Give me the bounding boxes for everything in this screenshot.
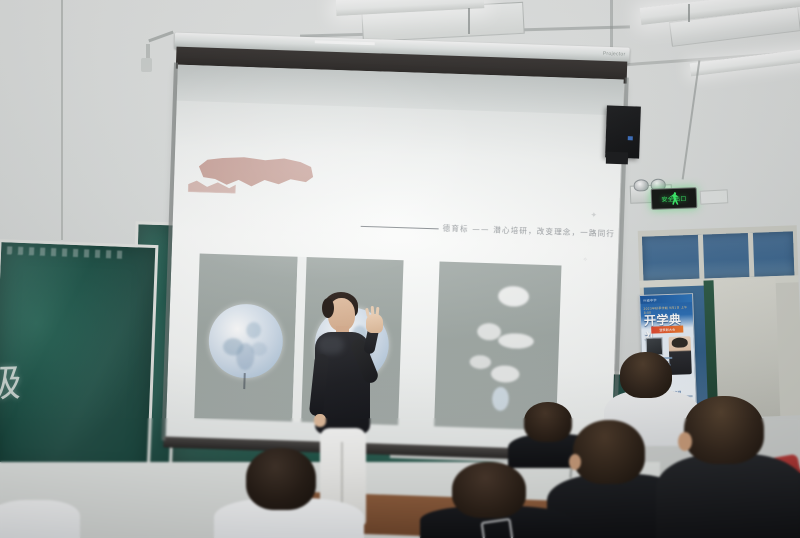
wall-speaker — [605, 105, 641, 158]
slide-title-text: 德育标 —— 潜心培研，改变理念，一路同行 — [442, 223, 615, 240]
student-head — [246, 448, 316, 510]
circular-image-1 — [208, 303, 284, 379]
wall-seam-left — [61, 0, 63, 240]
panel-stem-1 — [243, 373, 246, 389]
teacher-finger-1 — [365, 308, 370, 317]
chalk-smudge — [7, 246, 127, 259]
slide-image-panel-1 — [194, 254, 297, 422]
light-hanger-rod-1 — [468, 8, 470, 34]
poster-kicker-text: 兴南中学 — [643, 297, 657, 302]
chalk-writing: 级 — [0, 352, 22, 408]
student-body — [0, 500, 80, 538]
teacher-shoulder-highlight — [318, 336, 344, 354]
emergency-lamp-icon-left — [633, 179, 648, 192]
light-hanger-rod-2 — [688, 4, 690, 22]
student-front-center — [430, 462, 560, 538]
student-body — [656, 454, 800, 538]
student-edge-left — [0, 500, 80, 538]
roller-highlight — [315, 40, 375, 45]
teacher-finger-2 — [371, 306, 375, 315]
student-front-left — [228, 448, 348, 538]
classroom-photo: 级 Projector 德育标 —— 潜心培研，改变理念，一路同行 ✦ ✧ — [0, 0, 800, 538]
window-transom-glass — [642, 231, 794, 280]
speaker-mount — [606, 152, 628, 165]
screen-brand-label: Projector — [603, 51, 626, 58]
student-ear — [678, 432, 692, 451]
student-ear — [569, 454, 581, 470]
teacher-hair-bun — [322, 298, 334, 318]
slide-decoration-icon-2: ✧ — [583, 256, 588, 263]
wall-sensor-plate — [700, 189, 729, 204]
teacher-hand-lowered — [314, 414, 326, 427]
poster-ribbon-text: 暨表彰大会 — [659, 327, 675, 333]
board-sheen — [0, 242, 155, 476]
slide-decoration-icon: ✦ — [590, 210, 597, 219]
student-head — [452, 462, 526, 518]
screen-bracket-knob — [141, 58, 152, 72]
slide-rule-line — [361, 226, 439, 230]
chalkboard-left: 级 — [0, 239, 158, 479]
student-head — [684, 396, 764, 464]
student-head — [620, 352, 672, 398]
student-head — [573, 420, 645, 484]
poster-ribbon: 暨表彰大会 — [651, 325, 683, 333]
exit-sign: 安全出口 — [651, 187, 698, 210]
student-shirt-graphic — [481, 518, 514, 538]
tree-silhouette-image — [449, 275, 551, 417]
student-far-right — [660, 396, 800, 538]
